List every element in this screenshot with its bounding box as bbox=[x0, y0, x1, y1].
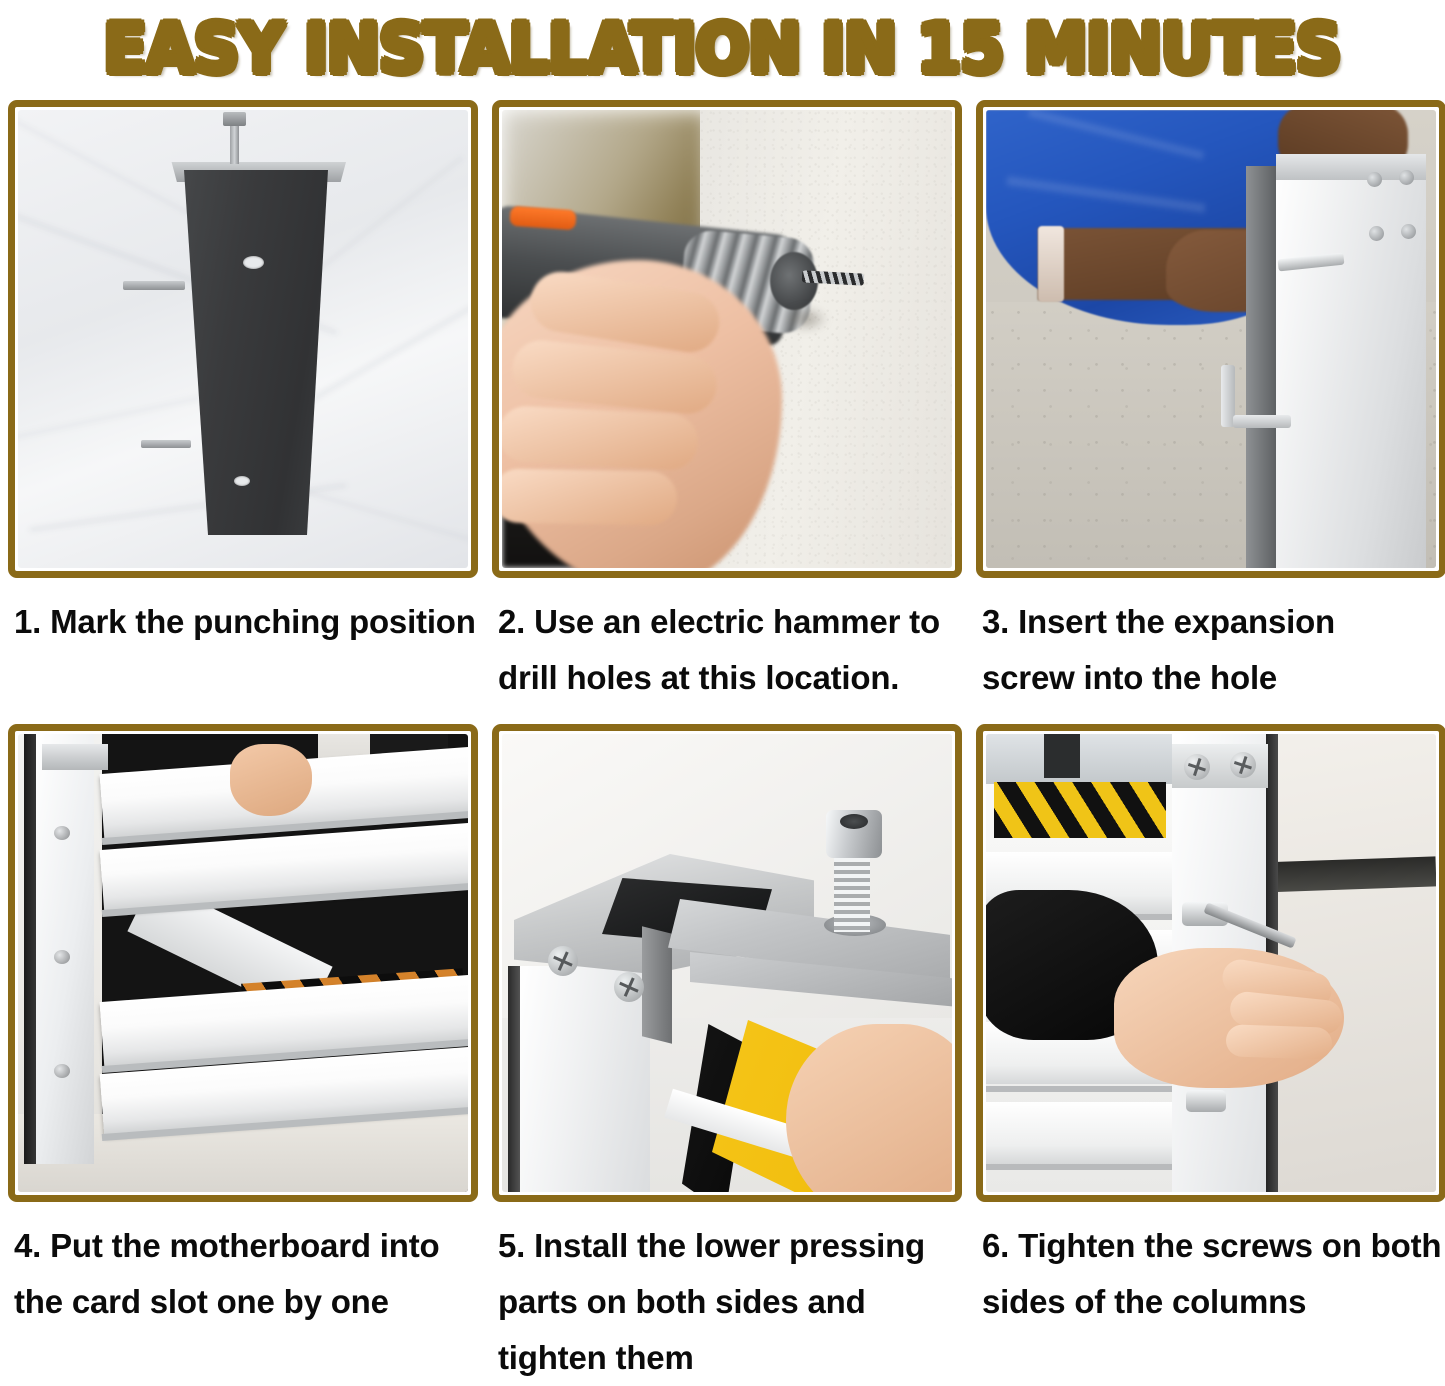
hex-socket bbox=[840, 814, 868, 829]
column-screw bbox=[1369, 226, 1384, 241]
finger bbox=[502, 468, 677, 525]
step-card-6: 6. Tighten the screws on both sides of t… bbox=[976, 724, 1445, 1386]
column-screw bbox=[1367, 172, 1382, 187]
caption-line: drill holes at this location. bbox=[498, 650, 962, 706]
steps-grid: 1. Mark the punching position bbox=[0, 100, 1445, 1386]
caption-line: 6. Tighten the screws on both bbox=[982, 1218, 1445, 1274]
mounting-hole bbox=[234, 476, 250, 486]
title-banner: EASY INSTALLATION IN 15 MINUTES bbox=[0, 0, 1445, 100]
insert-boards-photo bbox=[18, 734, 468, 1192]
page-title: EASY INSTALLATION IN 15 MINUTES bbox=[104, 13, 1341, 87]
caption-line: 2. Use an electric hammer to bbox=[498, 594, 962, 650]
step-4-photo-frame bbox=[8, 724, 478, 1202]
cap-lip bbox=[642, 926, 672, 1043]
caption-line: 4. Put the motherboard into bbox=[14, 1218, 478, 1274]
column-screw bbox=[54, 950, 70, 964]
step-4-caption: 4. Put the motherboard into the card slo… bbox=[8, 1218, 478, 1330]
step-6-caption: 6. Tighten the screws on both sides of t… bbox=[976, 1218, 1445, 1330]
phillips-screw bbox=[1184, 754, 1210, 780]
phillips-screw bbox=[614, 972, 644, 1002]
phillips-screw bbox=[1230, 752, 1256, 778]
mounting-hole bbox=[243, 256, 264, 269]
step-2-photo-frame bbox=[492, 100, 962, 578]
board-lip bbox=[986, 1164, 1180, 1170]
white-column bbox=[36, 734, 94, 1164]
step-1-caption: 1. Mark the punching position bbox=[8, 594, 478, 650]
board-lip bbox=[986, 1086, 1180, 1092]
step-5-caption: 5. Install the lower pressing parts on b… bbox=[492, 1218, 962, 1386]
step-5-photo-frame bbox=[492, 724, 962, 1202]
step-card-2: 2. Use an electric hammer to drill holes… bbox=[492, 100, 962, 706]
barrier-board bbox=[986, 1102, 1180, 1164]
column-screw bbox=[1399, 170, 1414, 185]
step-card-4: 4. Put the motherboard into the card slo… bbox=[8, 724, 478, 1386]
tighten-screws-photo bbox=[986, 734, 1436, 1192]
column-screw bbox=[1186, 1090, 1226, 1112]
drilling-wall-photo bbox=[502, 110, 952, 568]
caption-line: 1. Mark the punching position bbox=[14, 594, 478, 650]
caption-line: tighten them bbox=[498, 1330, 962, 1386]
step-card-1: 1. Mark the punching position bbox=[8, 100, 478, 706]
phillips-screw bbox=[548, 946, 578, 976]
column-screw bbox=[1401, 224, 1416, 239]
column-screw bbox=[54, 826, 70, 840]
allen-key-arm bbox=[1233, 415, 1291, 428]
caption-line: the card slot one by one bbox=[14, 1274, 478, 1330]
step-card-3: 3. Insert the expansion screw into the h… bbox=[976, 100, 1445, 706]
sleeve-cuff bbox=[1038, 226, 1064, 302]
drill-dust bbox=[784, 306, 828, 332]
shirt-fold bbox=[1028, 110, 1205, 160]
top-dark-notch bbox=[1044, 734, 1080, 778]
shirt-fold bbox=[1006, 176, 1205, 213]
column-screw bbox=[54, 1064, 70, 1078]
finger bbox=[1225, 1024, 1332, 1060]
caption-line: 3. Insert the expansion bbox=[982, 594, 1445, 650]
step-card-5: 5. Install the lower pressing parts on b… bbox=[492, 724, 962, 1386]
steps-row-2: 4. Put the motherboard into the card slo… bbox=[8, 724, 1437, 1386]
hazard-stripe-yellow bbox=[994, 782, 1166, 838]
top-bolt-nut bbox=[223, 112, 246, 126]
column-shadow-edge bbox=[1246, 166, 1276, 568]
step-3-photo-frame bbox=[976, 100, 1445, 578]
threaded-stud bbox=[141, 440, 191, 448]
caption-line: parts on both sides and bbox=[498, 1274, 962, 1330]
pressing-bracket-photo bbox=[502, 734, 952, 1192]
caption-line: 5. Install the lower pressing bbox=[498, 1218, 962, 1274]
step-6-photo-frame bbox=[976, 724, 1445, 1202]
bolt-shank bbox=[834, 850, 870, 932]
threaded-stud bbox=[123, 281, 185, 290]
steps-row-1: 1. Mark the punching position bbox=[8, 100, 1437, 706]
marking-template-photo bbox=[18, 110, 468, 568]
hand bbox=[230, 744, 312, 816]
finger bbox=[502, 405, 699, 471]
caption-line: sides of the columns bbox=[982, 1274, 1445, 1330]
step-1-photo-frame bbox=[8, 100, 478, 578]
column-post-body bbox=[178, 170, 328, 535]
column-top-bracket bbox=[42, 744, 108, 770]
step-2-caption: 2. Use an electric hammer to drill holes… bbox=[492, 594, 962, 706]
expansion-screw-photo bbox=[986, 110, 1436, 568]
white-column bbox=[1276, 162, 1426, 568]
step-3-caption: 3. Insert the expansion screw into the h… bbox=[976, 594, 1445, 706]
caption-line: screw into the hole bbox=[982, 650, 1445, 706]
